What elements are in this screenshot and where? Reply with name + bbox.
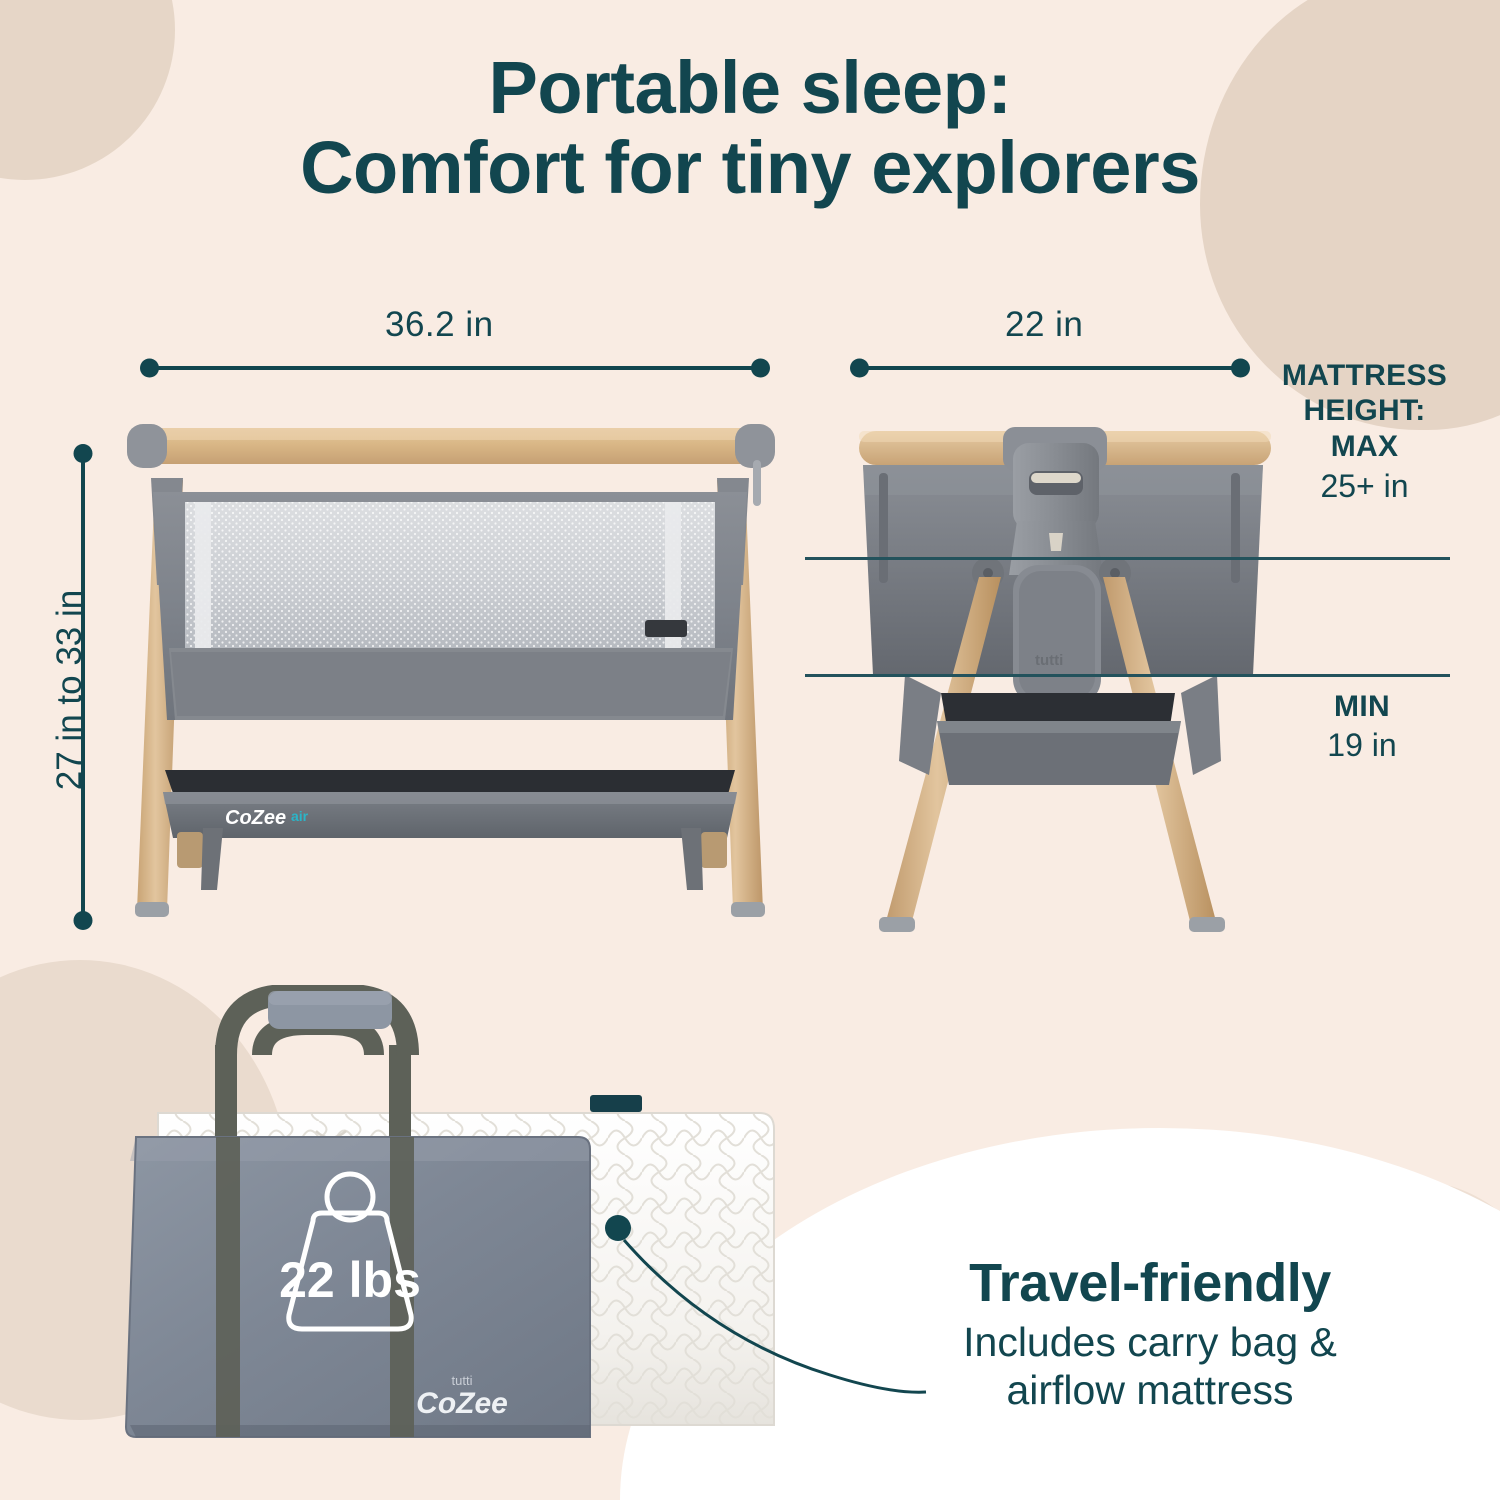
svg-text:22 lbs: 22 lbs <box>279 1252 421 1308</box>
mattress-height-line-2: HEIGHT: <box>1257 393 1472 428</box>
side-width-dimension-line <box>858 366 1242 370</box>
svg-text:CoZee: CoZee <box>416 1387 508 1420</box>
mattress-min-reference-line <box>805 674 1450 677</box>
svg-text:air: air <box>291 808 309 824</box>
front-width-label: 36.2 in <box>385 305 494 345</box>
svg-text:tutti: tutti <box>1035 652 1063 669</box>
crib-front-view-image: CoZee air <box>105 420 795 940</box>
mattress-height-max-value: 25+ in <box>1257 468 1472 505</box>
infographic-canvas: Portable sleep: Comfort for tiny explore… <box>0 0 1500 1500</box>
mattress-min-annotation: MIN 19 in <box>1272 690 1452 764</box>
page-title: Portable sleep: Comfort for tiny explore… <box>0 48 1500 208</box>
side-width-label: 22 in <box>1005 305 1083 345</box>
front-width-dimension-line <box>148 366 762 370</box>
travel-friendly-title: Travel-friendly <box>860 1255 1440 1312</box>
mattress-height-annotation: MATTRESS HEIGHT: MAX 25+ in <box>1257 358 1472 505</box>
svg-text:tutti: tutti <box>452 1373 473 1388</box>
mattress-min-title: MIN <box>1272 690 1452 724</box>
height-range-label: 27 in to 33 in <box>50 550 90 830</box>
travel-friendly-subtitle-line-2: airflow mattress <box>860 1366 1440 1414</box>
mattress-height-line-3: MAX <box>1257 429 1472 464</box>
headline-line-1: Portable sleep: <box>488 46 1011 129</box>
mattress-height-line-1: MATTRESS <box>1257 358 1472 393</box>
travel-friendly-callout: Travel-friendly Includes carry bag & air… <box>860 1255 1440 1414</box>
mattress-min-value: 19 in <box>1272 727 1452 764</box>
svg-text:CoZee: CoZee <box>225 807 286 829</box>
crib-side-view-image: tutti <box>845 425 1285 950</box>
travel-friendly-subtitle-line-1: Includes carry bag & <box>860 1318 1440 1366</box>
headline-line-2: Comfort for tiny explorers <box>0 128 1500 208</box>
mattress-max-reference-line <box>805 557 1450 560</box>
